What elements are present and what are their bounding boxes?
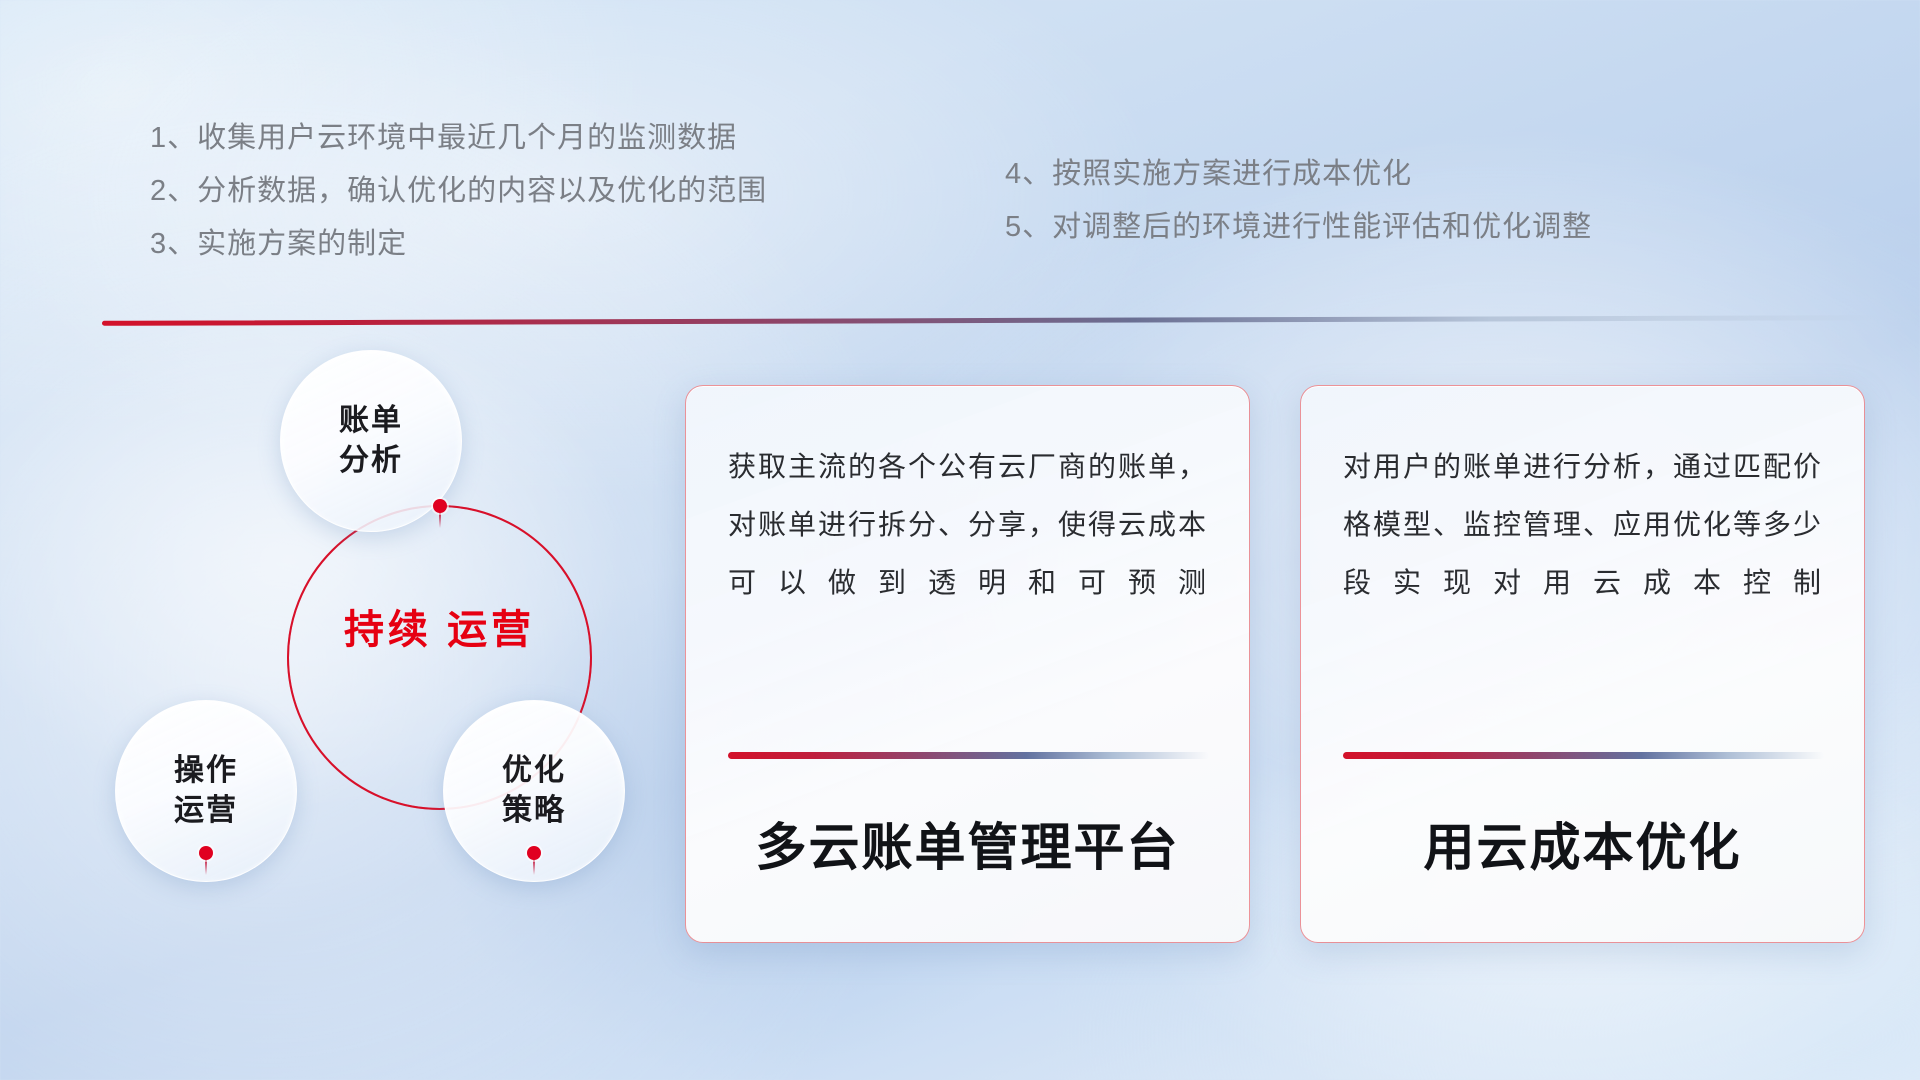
card-multicloud-billing-body: 获取主流的各个公有云厂商的账单，对账单进行拆分、分享，使得云成本可以做到透明和可… (728, 438, 1207, 612)
cycle-connector-bottom-right (533, 859, 535, 875)
cycle-center-line-1: 持续 (344, 608, 432, 652)
cycle-node-operations-line1: 操作 (174, 751, 238, 791)
step-item-2: 2、分析数据，确认优化的内容以及优化的范围 (150, 165, 767, 218)
cycle-diagram: 持续 运营 账单 分析 操作 运营 优化 策略 (95, 350, 655, 950)
card-multicloud-billing-rule (728, 752, 1209, 759)
cycle-dot-top (433, 499, 447, 513)
step-item-5: 5、对调整后的环境进行性能评估和优化调整 (1005, 201, 1592, 254)
cycle-connector-top (439, 512, 441, 528)
steps-section: 1、收集用户云环境中最近几个月的监测数据 2、分析数据，确认优化的内容以及优化的… (0, 112, 1920, 282)
cycle-dot-bottom-left (199, 846, 213, 860)
cycle-node-optimization-strategy-line2: 策略 (502, 791, 566, 831)
cycle-dot-bottom-right (527, 846, 541, 860)
step-item-4: 4、按照实施方案进行成本优化 (1005, 148, 1592, 201)
step-item-1: 1、收集用户云环境中最近几个月的监测数据 (150, 112, 767, 165)
cycle-center-line-2: 运营 (447, 608, 535, 652)
card-cloud-cost-optimization[interactable]: 对用户的账单进行分析，通过匹配价格模型、监控管理、应用优化等多少段实现对用云成本… (1300, 385, 1865, 943)
card-multicloud-billing[interactable]: 获取主流的各个公有云厂商的账单，对账单进行拆分、分享，使得云成本可以做到透明和可… (685, 385, 1250, 943)
card-multicloud-billing-title: 多云账单管理平台 (686, 806, 1249, 880)
cycle-node-optimization-strategy-line1: 优化 (502, 751, 566, 791)
cycle-node-bill-analysis-line2: 分析 (339, 441, 403, 481)
card-cloud-cost-optimization-rule (1343, 752, 1824, 759)
cycle-node-bill-analysis-line1: 账单 (339, 401, 403, 441)
step-item-3: 3、实施方案的制定 (150, 218, 767, 271)
steps-column-left: 1、收集用户云环境中最近几个月的监测数据 2、分析数据，确认优化的内容以及优化的… (150, 112, 767, 271)
cycle-node-operations-line2: 运营 (174, 791, 238, 831)
card-cloud-cost-optimization-title: 用云成本优化 (1301, 806, 1864, 880)
steps-column-right: 4、按照实施方案进行成本优化 5、对调整后的环境进行性能评估和优化调整 (1005, 148, 1592, 254)
cycle-center-label: 持续 运营 (287, 605, 592, 655)
section-divider (102, 315, 1882, 326)
card-cloud-cost-optimization-body: 对用户的账单进行分析，通过匹配价格模型、监控管理、应用优化等多少段实现对用云成本… (1343, 438, 1822, 612)
cycle-connector-bottom-left (205, 859, 207, 875)
